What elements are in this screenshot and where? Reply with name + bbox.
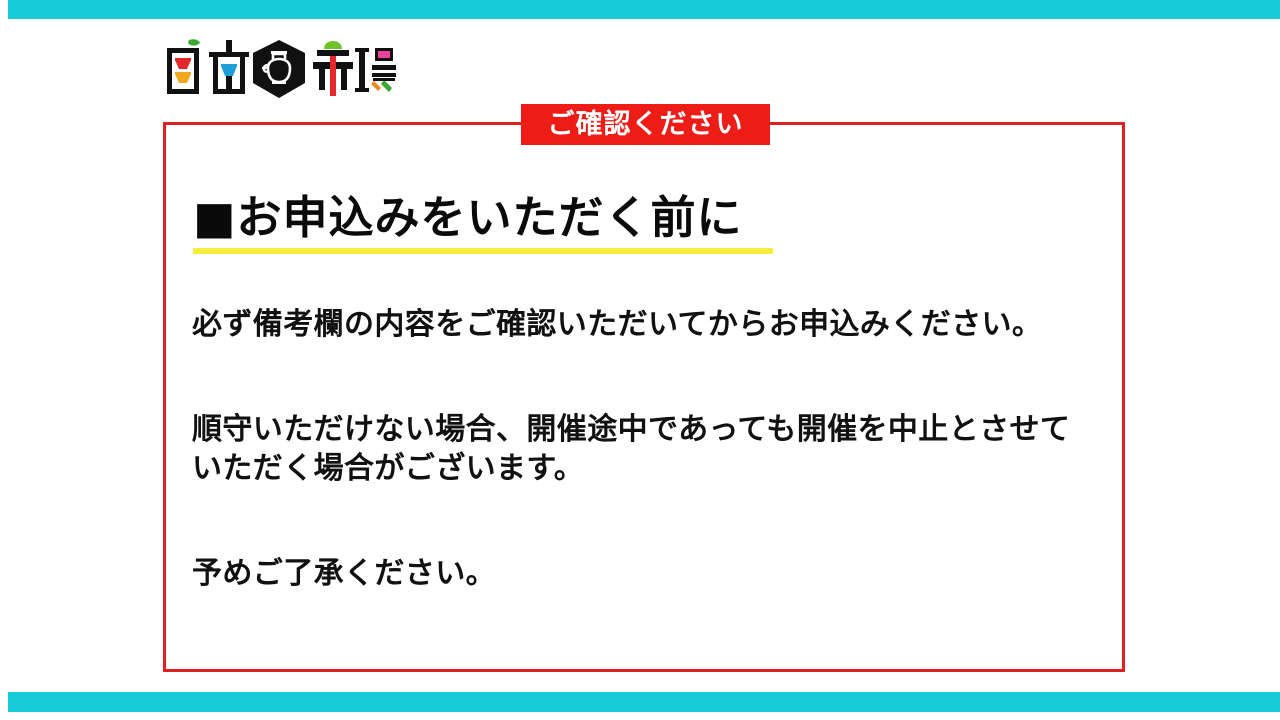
- logo-glyph-ichi: [313, 41, 353, 96]
- logo-glyph-haku: [167, 39, 200, 95]
- notice-paragraph-3: 予めご了承ください。: [192, 554, 1097, 593]
- ribbon-label: ご確認ください: [548, 111, 744, 138]
- leaf-icon: [188, 39, 200, 45]
- jiyu-ichiba-logo: [163, 38, 398, 104]
- logo-mark: [163, 38, 398, 104]
- top-accent-bar: [8, 0, 1280, 19]
- notice-body: 必ず備考欄の内容をご確認いただいてからお申込みください。 順守いただけない場合、…: [192, 305, 1097, 593]
- cap-icon: [324, 41, 342, 49]
- logo-glyph-yu: [209, 40, 249, 94]
- notice-paragraph-1: 必ず備考欄の内容をご確認いただいてからお申込みください。: [192, 305, 1097, 344]
- notice-paragraph-2: 順守いただけない場合、開催途中であっても開催を中止とさせていただく場合がございま…: [192, 410, 1097, 488]
- logo-glyph-ba: [355, 48, 396, 92]
- notice-heading-wrap: ■お申込みをいただく前に: [193, 193, 953, 243]
- logo-glyph-hex-seal: [253, 40, 305, 98]
- confirm-ribbon-banner: ご確認ください: [521, 104, 770, 145]
- notice-heading: ■お申込みをいただく前に: [193, 193, 953, 243]
- heading-underline: [193, 248, 773, 254]
- bottom-accent-bar: [8, 692, 1280, 712]
